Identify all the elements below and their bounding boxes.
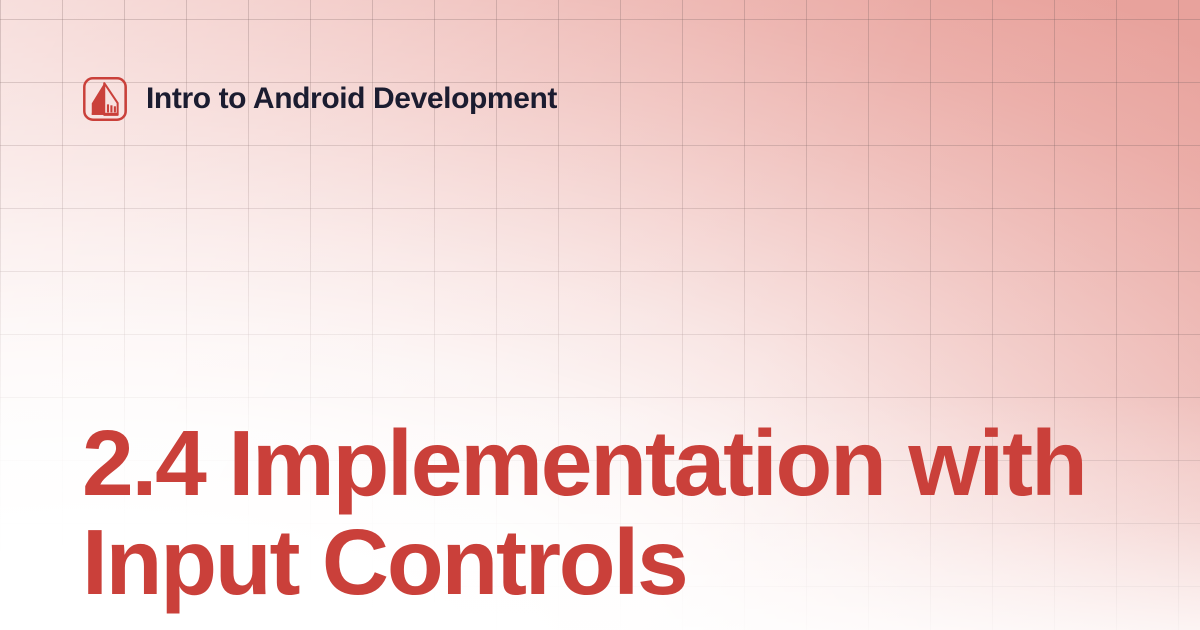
brand-header: Intro to Android Development (82, 76, 557, 122)
slide-canvas: Intro to Android Development 2.4 Impleme… (0, 0, 1200, 630)
brand-title: Intro to Android Development (146, 84, 557, 114)
page-title: 2.4 Implementation with Input Controls (82, 414, 1112, 611)
church-building-icon (82, 76, 128, 122)
